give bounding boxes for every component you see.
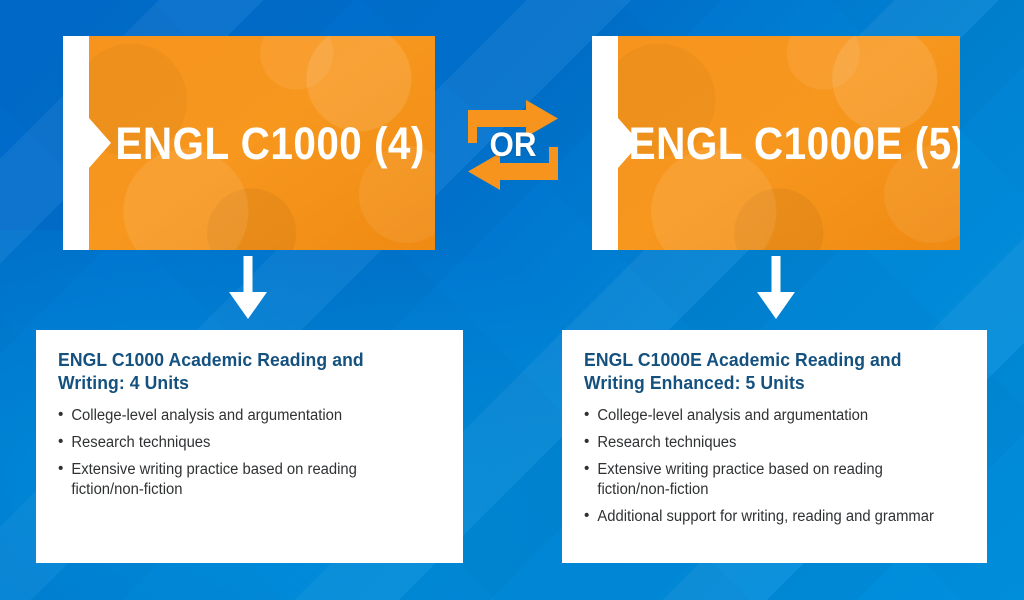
banner-white-bar xyxy=(63,36,89,250)
course-detail-card-engl-c1000: ENGL C1000 Academic Reading and Writing:… xyxy=(36,330,463,563)
banner-label: ENGL C1000E (5) xyxy=(635,36,943,250)
or-label: OR xyxy=(466,96,560,194)
pathway-diagram: ENGL C1000 (4) ENGL C1000E (5) OR xyxy=(0,0,1024,600)
list-item: Additional support for writing, reading … xyxy=(584,507,948,526)
list-item: Extensive writing practice based on read… xyxy=(58,460,424,498)
list-item: Research techniques xyxy=(584,433,948,452)
course-detail-card-engl-c1000e: ENGL C1000E Academic Reading and Writing… xyxy=(562,330,987,563)
course-banner-engl-c1000e[interactable]: ENGL C1000E (5) xyxy=(592,36,960,250)
card-bullet-list: College-level analysis and argumentation… xyxy=(584,406,965,526)
card-title: ENGL C1000 Academic Reading and Writing:… xyxy=(58,348,422,395)
arrow-shaft xyxy=(772,256,781,294)
card-title: ENGL C1000E Academic Reading and Writing… xyxy=(584,348,946,395)
arrow-shaft xyxy=(244,256,253,294)
banner-label: ENGL C1000 (4) xyxy=(106,36,417,250)
card-bullet-list: College-level analysis and argumentation… xyxy=(58,406,441,499)
list-item: Research techniques xyxy=(58,433,424,452)
banner-white-bar xyxy=(592,36,618,250)
course-banner-engl-c1000[interactable]: ENGL C1000 (4) xyxy=(63,36,435,250)
arrow-head xyxy=(757,292,795,319)
arrow-down-icon-right xyxy=(752,256,800,322)
list-item: College-level analysis and argumentation xyxy=(58,406,424,425)
or-connector: OR xyxy=(462,96,564,194)
list-item: Extensive writing practice based on read… xyxy=(584,460,948,498)
arrow-head xyxy=(229,292,267,319)
list-item: College-level analysis and argumentation xyxy=(584,406,948,425)
arrow-down-icon-left xyxy=(224,256,272,322)
